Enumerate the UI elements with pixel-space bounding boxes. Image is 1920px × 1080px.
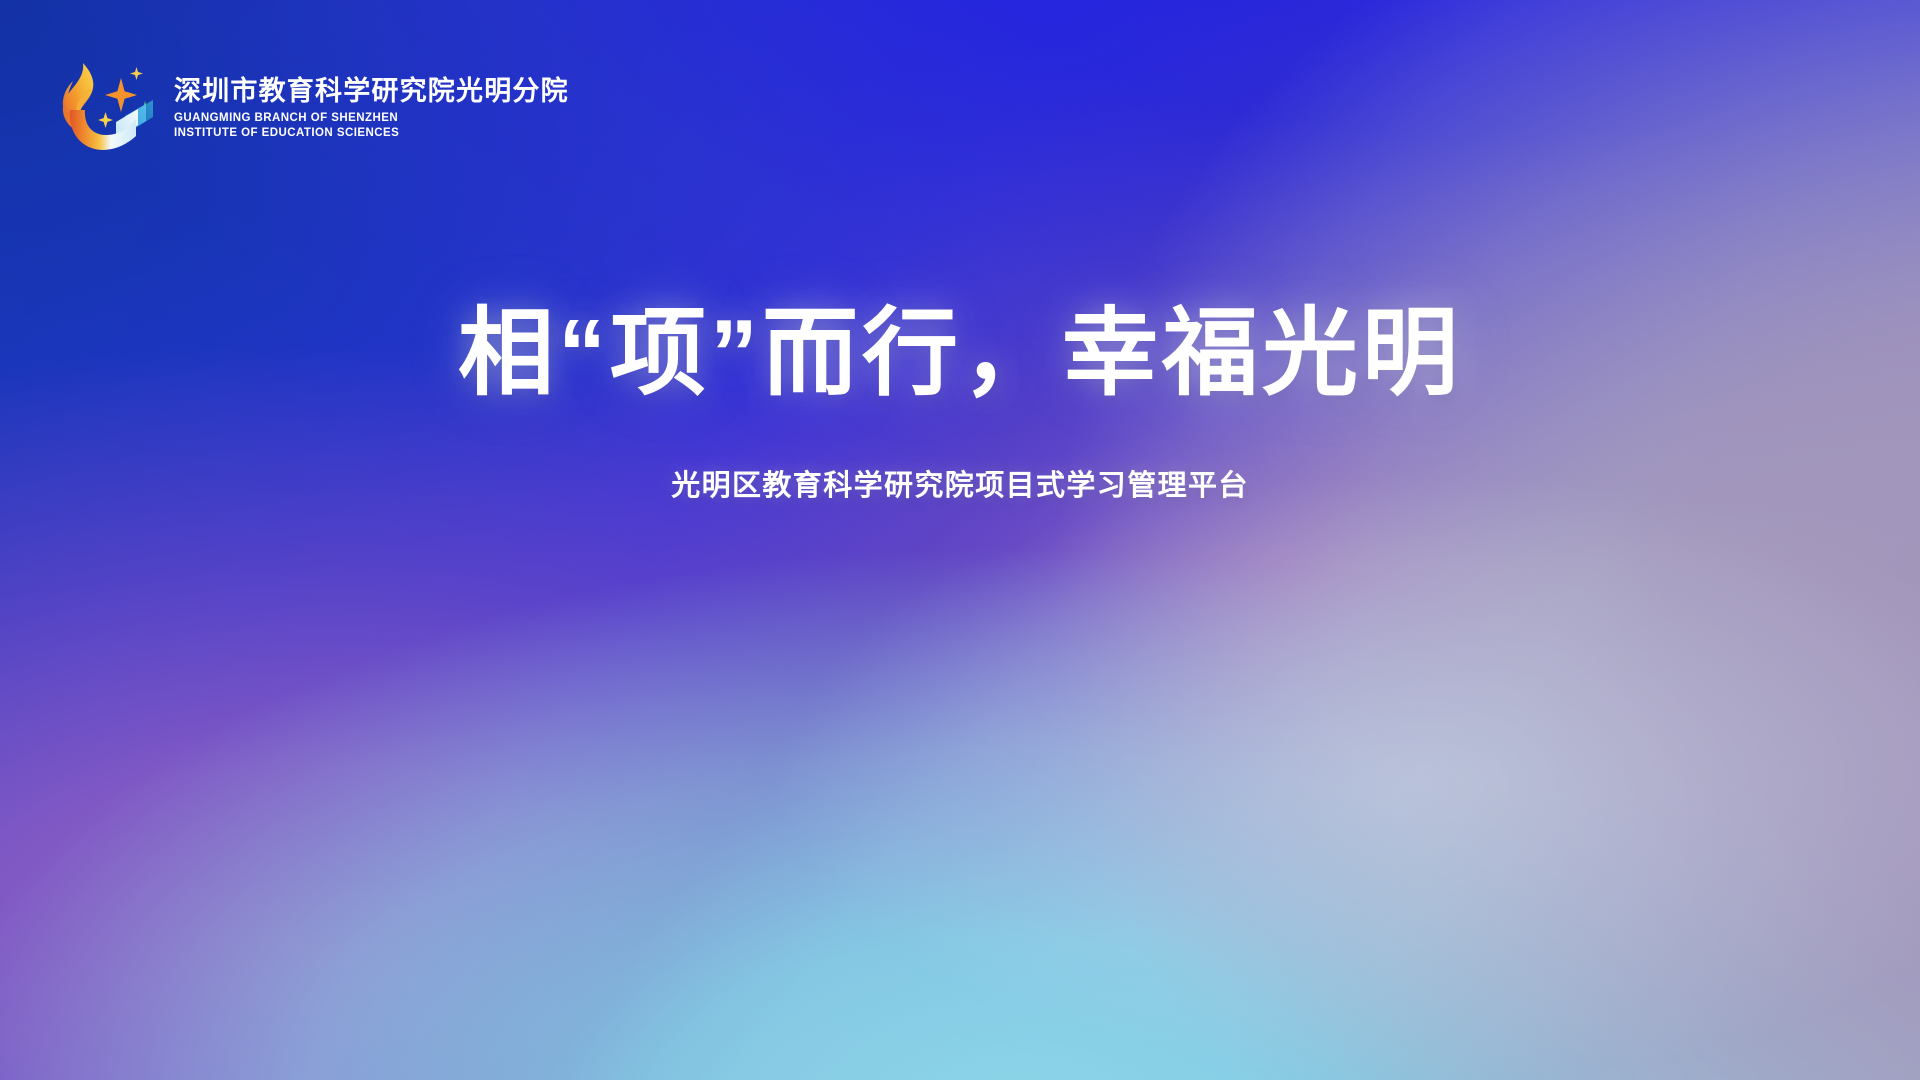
- background-base-gradient: [0, 0, 1920, 1080]
- background-blue-top-left: [0, 0, 1920, 1080]
- background-light-streak: [0, 0, 1920, 1080]
- background-violet-blob: [0, 0, 1920, 1080]
- hero-section: 相“项”而行，幸福光明 光明区教育科学研究院项目式学习管理平台: [0, 300, 1920, 504]
- background-diagonal-fold: [0, 0, 1920, 1080]
- page-subtitle: 光明区教育科学研究院项目式学习管理平台: [0, 408, 1920, 504]
- page-title: 相“项”而行，幸福光明: [0, 300, 1920, 408]
- brand-text-block: 深圳市教育科学研究院光明分院 GUANGMING BRANCH OF SHENZ…: [174, 70, 569, 141]
- brand-name-cn: 深圳市教育科学研究院光明分院: [174, 76, 569, 106]
- background-blue-top-right: [0, 0, 1920, 1080]
- background-cyan-blob: [0, 0, 1920, 1080]
- landing-page: 深圳市教育科学研究院光明分院 GUANGMING BRANCH OF SHENZ…: [0, 0, 1920, 1080]
- background-mauve-blob: [0, 0, 1920, 1080]
- background-vignette: [0, 0, 1920, 1080]
- flame-book-stars-emblem-icon: [50, 55, 158, 155]
- brand-logo-lockup[interactable]: 深圳市教育科学研究院光明分院 GUANGMING BRANCH OF SHENZ…: [50, 55, 569, 155]
- brand-name-en: GUANGMING BRANCH OF SHENZHEN INSTITUTE O…: [174, 111, 452, 140]
